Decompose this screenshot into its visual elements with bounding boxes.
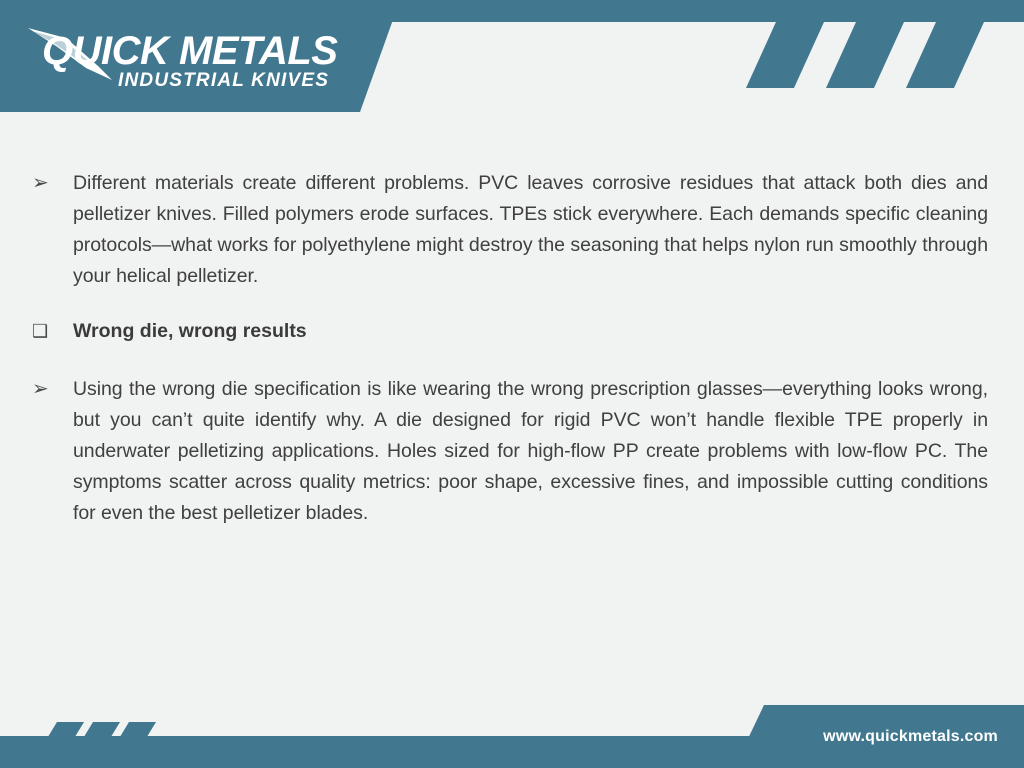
logo-brand-text: QUICK METALS xyxy=(42,29,338,73)
slide-canvas: QUICK METALS INDUSTRIAL KNIVES ➢ Differe… xyxy=(0,0,1024,768)
subheading-text: Wrong die, wrong results xyxy=(73,316,988,346)
paragraph-1: Different materials create different pro… xyxy=(73,168,988,292)
bullet-item-1: ➢ Different materials create different p… xyxy=(28,168,988,292)
footer-stripe-1 xyxy=(40,722,84,750)
website-url-link[interactable]: www.quickmetals.com xyxy=(823,705,998,768)
company-logo: QUICK METALS INDUSTRIAL KNIVES xyxy=(26,22,376,94)
subheading-item: ❑ Wrong die, wrong results xyxy=(28,316,988,346)
logo-tagline-text: INDUSTRIAL KNIVES xyxy=(118,70,329,91)
square-bullet-icon: ❑ xyxy=(28,316,73,346)
header-stripe-1 xyxy=(746,0,834,88)
paragraph-2: Using the wrong die specification is lik… xyxy=(73,374,988,529)
header-top-bar xyxy=(380,0,1024,22)
bullet-item-2: ➢ Using the wrong die specification is l… xyxy=(28,374,988,529)
header-stripe-3 xyxy=(906,0,994,88)
bullet-text-2: Using the wrong die specification is lik… xyxy=(73,374,988,529)
slide-content: ➢ Different materials create different p… xyxy=(28,168,988,529)
logo-svg: QUICK METALS INDUSTRIAL KNIVES xyxy=(26,22,376,94)
footer-stripe-2 xyxy=(76,722,120,750)
slide-footer: www.quickmetals.com xyxy=(0,705,1024,768)
arrow-bullet-icon: ➢ xyxy=(28,374,73,405)
footer-stripe-3 xyxy=(112,722,156,750)
header-stripe-2 xyxy=(826,0,914,88)
arrow-bullet-icon: ➢ xyxy=(28,168,73,199)
bullet-text-1: Different materials create different pro… xyxy=(73,168,988,292)
